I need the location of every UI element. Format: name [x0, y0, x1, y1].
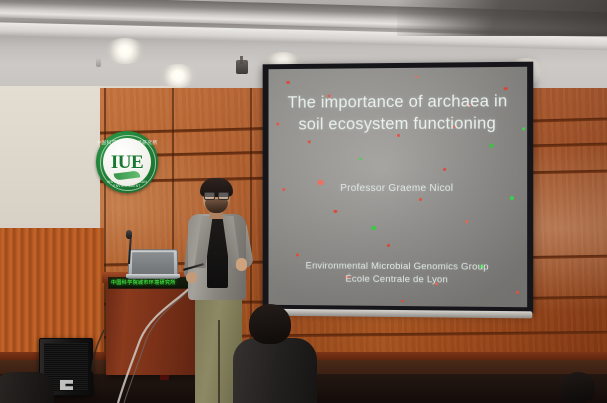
- slide-author: Professor Graeme Nicol: [276, 183, 519, 194]
- sprinkler-head: [96, 58, 101, 67]
- iue-logo: 中国科学院城市环境研究所 INSTITUTE OF URBAN ENVIRONM…: [96, 131, 158, 193]
- laser-speckle: [419, 198, 422, 201]
- laptop-base: [126, 274, 180, 278]
- slide-affiliation-line2: École Centrale de Lyon: [345, 274, 448, 286]
- projector-mount: [236, 60, 248, 74]
- audience-member-body: [0, 372, 54, 403]
- laser-speckle: [308, 140, 311, 143]
- ceiling-shadow: [397, 0, 607, 36]
- logo-acronym: IUE: [96, 153, 158, 172]
- slide-affiliation: Environmental Microbial Genomics Group É…: [276, 259, 519, 287]
- laser-speckle: [401, 300, 404, 302]
- slide-affiliation-line1: Environmental Microbial Genomics Group: [306, 260, 489, 272]
- laser-speckle: [443, 168, 446, 171]
- presenter-trouser-seam: [218, 320, 220, 403]
- left-acoustic-panel: [0, 86, 100, 231]
- projection-screen-frame: The importance of archaea in soil ecosys…: [263, 62, 534, 314]
- glasses-icon: [204, 192, 229, 198]
- audience-member-head: [249, 304, 291, 344]
- ceiling-downlight-core: [170, 70, 185, 80]
- laser-speckle: [286, 81, 290, 84]
- projection-screen: The importance of archaea in soil ecosys…: [269, 67, 528, 307]
- laser-speckle: [371, 226, 376, 230]
- slide-title: The importance of archaea in soil ecosys…: [276, 90, 519, 135]
- slide-title-line1: The importance of archaea in: [288, 92, 508, 112]
- laser-speckle: [522, 127, 525, 130]
- laser-speckle: [516, 291, 519, 294]
- laser-speckle: [387, 244, 390, 247]
- ceiling-downlight-core: [117, 45, 133, 56]
- audience-member-body: [233, 338, 317, 403]
- laptop-screen: [132, 252, 174, 275]
- laser-speckle: [296, 253, 299, 256]
- laser-speckle: [333, 210, 337, 213]
- presenter-right-hand: [236, 258, 247, 271]
- laser-speckle: [510, 196, 514, 200]
- lecture-hall-photo: 中国科学院城市环境研究所 INSTITUTE OF URBAN ENVIRONM…: [0, 0, 607, 403]
- laser-speckle: [415, 76, 418, 78]
- presenter-left-hand: [186, 272, 197, 283]
- laser-speckle: [465, 220, 468, 223]
- audience-member-head: [561, 372, 595, 403]
- microphone-icon: [126, 230, 132, 239]
- laser-speckle: [359, 158, 362, 160]
- laser-speckle: [490, 144, 494, 148]
- slide-title-line2: soil ecosystem functioning: [299, 114, 497, 133]
- podium: [106, 281, 200, 375]
